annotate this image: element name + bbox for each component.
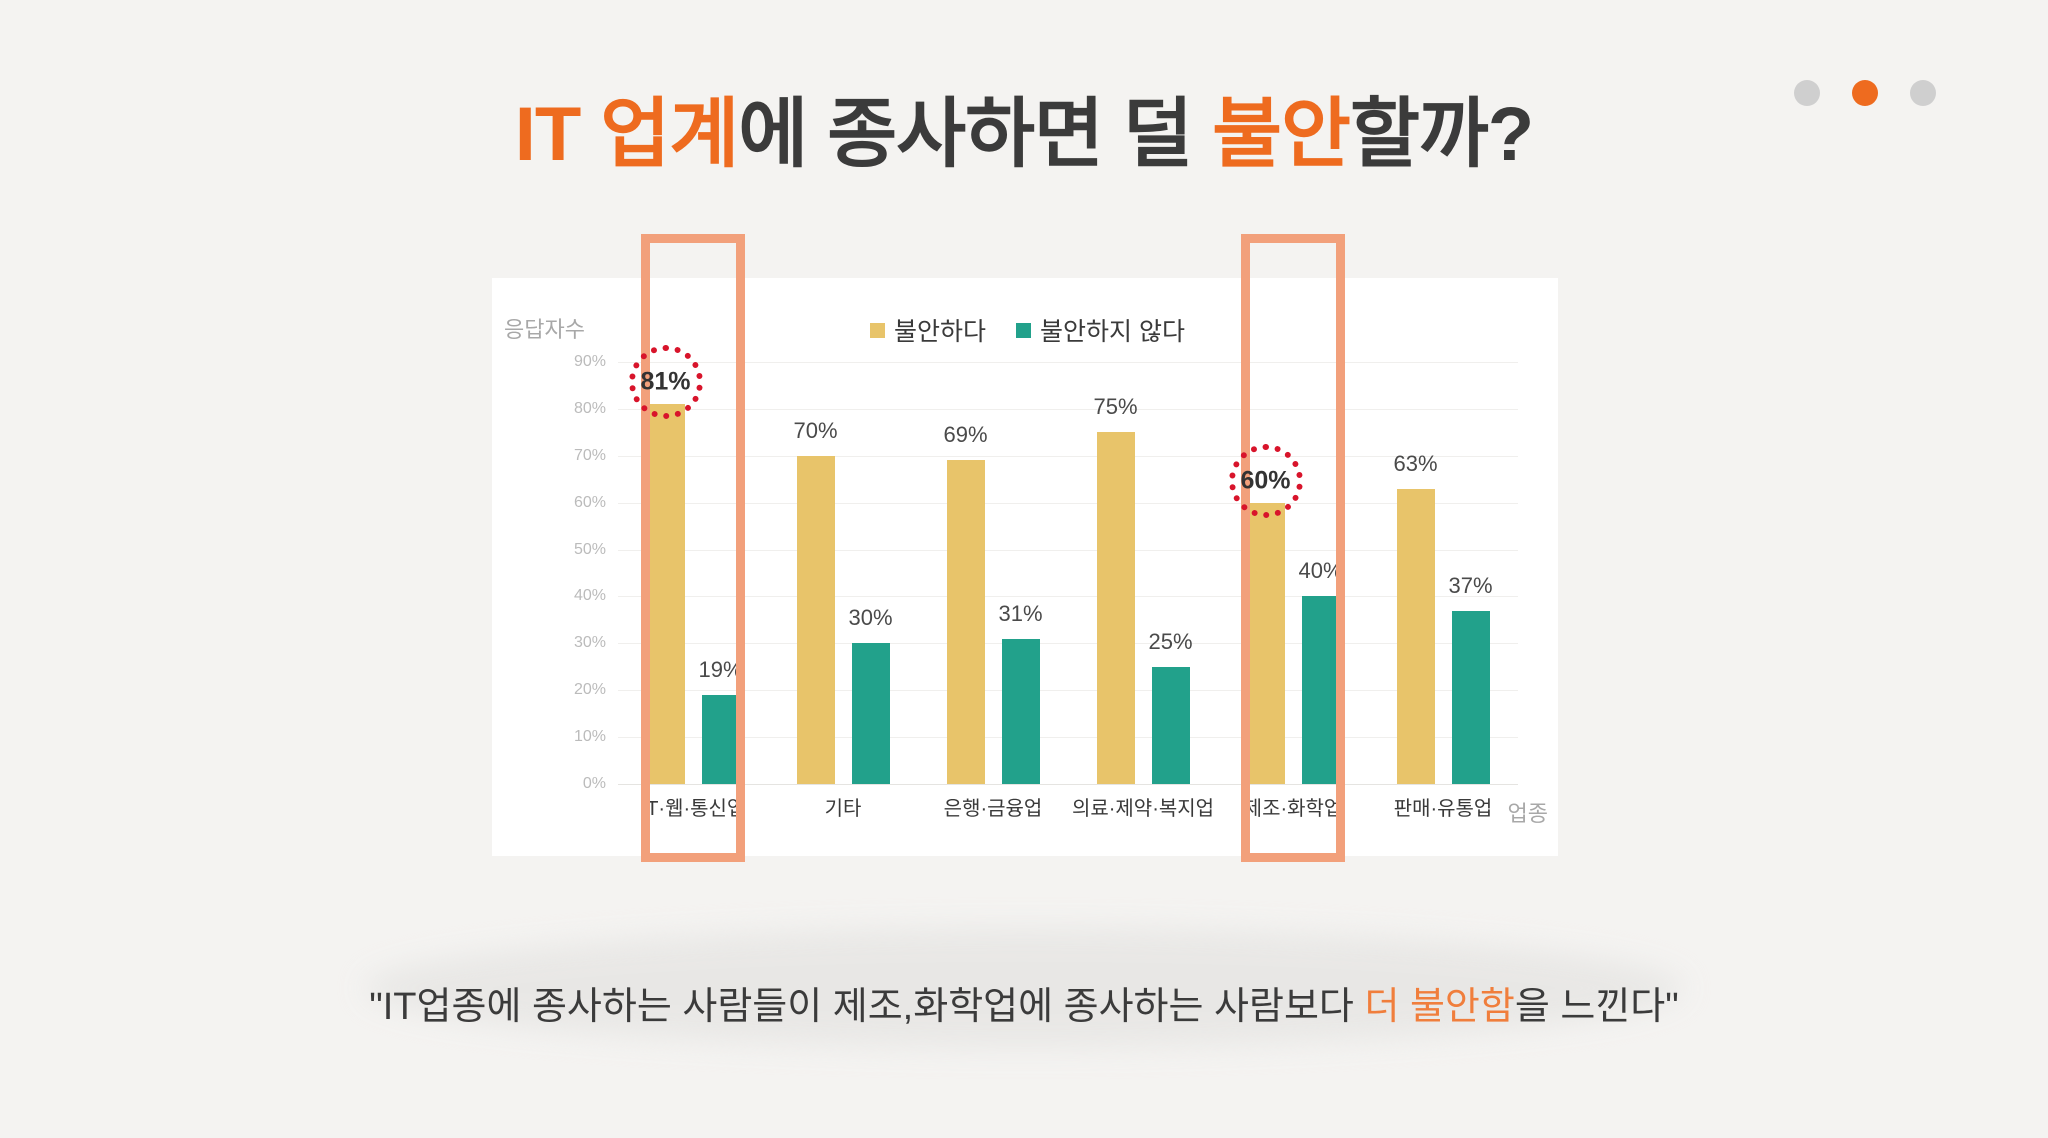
chart-bars: 81%19%70%30%69%31%75%25%60%40%63%37% — [618, 362, 1518, 784]
chart-plot-area: 응답자수 업종 불안하다 불안하지 않다 90%80%70%60%50%40%3… — [492, 278, 1558, 856]
x-category-label: 의료·제약·복지업 — [1072, 792, 1214, 821]
chart-card: 응답자수 업종 불안하다 불안하지 않다 90%80%70%60%50%40%3… — [492, 278, 1558, 856]
bar-anxious[interactable]: 69% — [947, 460, 985, 784]
circle-annotation-81-label: 81% — [640, 368, 690, 397]
legend-item-not-anxious[interactable]: 불안하지 않다 — [1016, 312, 1185, 348]
bar-anxious[interactable]: 75% — [1097, 432, 1135, 784]
y-axis-label: 응답자수 — [504, 312, 585, 344]
bar-group: 69%31% — [947, 362, 1040, 784]
bar-not-anxious[interactable]: 37% — [1452, 611, 1490, 784]
chart-legend: 불안하다 불안하지 않다 — [870, 312, 1185, 348]
highlight-box-it — [641, 234, 745, 862]
circle-annotation-60-label: 60% — [1240, 466, 1290, 495]
caption-part-1: IT업종에 종사하는 사람들이 제조,화학업에 종사하는 사람보다 — [383, 986, 1365, 1028]
legend-label-not-anxious: 불안하지 않다 — [1040, 312, 1185, 348]
bar-value-label: 30% — [848, 605, 892, 631]
x-category-label: 판매·유통업 — [1394, 792, 1493, 821]
x-category-label: 은행·금융업 — [944, 792, 1043, 821]
bar-value-label: 31% — [998, 601, 1042, 627]
y-tick-label-70: 70% — [574, 447, 606, 465]
title-segment-1: IT 업계 — [515, 92, 739, 177]
bar-group: 63%37% — [1397, 362, 1490, 784]
bar-group: 75%25% — [1097, 362, 1190, 784]
bar-value-label: 37% — [1448, 573, 1492, 599]
bar-not-anxious[interactable]: 30% — [852, 643, 890, 784]
y-tick-label-30: 30% — [574, 634, 606, 652]
legend-swatch-icon-not-anxious — [1016, 323, 1031, 338]
legend-item-anxious[interactable]: 불안하다 — [870, 312, 986, 348]
bar-value-label: 75% — [1093, 394, 1137, 420]
slide-root: IT 업계에 종사하면 덜 불안할까? 응답자수 업종 불안하다 불안하지 않다… — [0, 0, 2048, 1138]
y-tick-label-90: 90% — [574, 353, 606, 371]
x-category-label: 기타 — [825, 792, 862, 821]
y-tick-label-0: 0% — [583, 775, 606, 793]
caption-highlight: 더 불안함 — [1364, 986, 1514, 1028]
title-segment-2: 에 종사하면 덜 — [738, 92, 1212, 177]
y-tick-label-10: 10% — [574, 728, 606, 746]
bar-value-label: 25% — [1148, 629, 1192, 655]
highlight-box-mfg — [1241, 234, 1345, 862]
bar-anxious[interactable]: 63% — [1397, 489, 1435, 784]
y-tick-label-60: 60% — [574, 494, 606, 512]
page-title: IT 업계에 종사하면 덜 불안할까? — [0, 72, 2048, 182]
bar-value-label: 63% — [1393, 451, 1437, 477]
legend-swatch-icon-anxious — [870, 323, 885, 338]
y-tick-label-80: 80% — [574, 400, 606, 418]
bar-not-anxious[interactable]: 25% — [1152, 667, 1190, 784]
bar-value-label: 69% — [943, 422, 987, 448]
chart-category-labels: IT·웹·통신업기타은행·금융업의료·제약·복지업제조·화학업판매·유통업 — [618, 792, 1518, 842]
legend-label-anxious: 불안하다 — [894, 312, 986, 348]
bar-not-anxious[interactable]: 31% — [1002, 639, 1040, 784]
title-segment-4: 할까? — [1350, 92, 1533, 177]
bar-value-label: 70% — [793, 418, 837, 444]
y-tick-label-40: 40% — [574, 587, 606, 605]
caption-open-quote: " — [369, 986, 383, 1028]
y-tick-label-20: 20% — [574, 681, 606, 699]
caption-part-2: 을 느낀다 — [1515, 986, 1665, 1028]
bar-anxious[interactable]: 70% — [797, 456, 835, 784]
gridline-0: 0% — [618, 784, 1518, 785]
bar-group: 70%30% — [797, 362, 890, 784]
y-tick-label-50: 50% — [574, 541, 606, 559]
caption-text: "IT업종에 종사하는 사람들이 제조,화학업에 종사하는 사람보다 더 불안함… — [0, 975, 2048, 1030]
title-segment-3: 불안 — [1212, 92, 1350, 177]
caption-close-quote: " — [1665, 986, 1679, 1028]
